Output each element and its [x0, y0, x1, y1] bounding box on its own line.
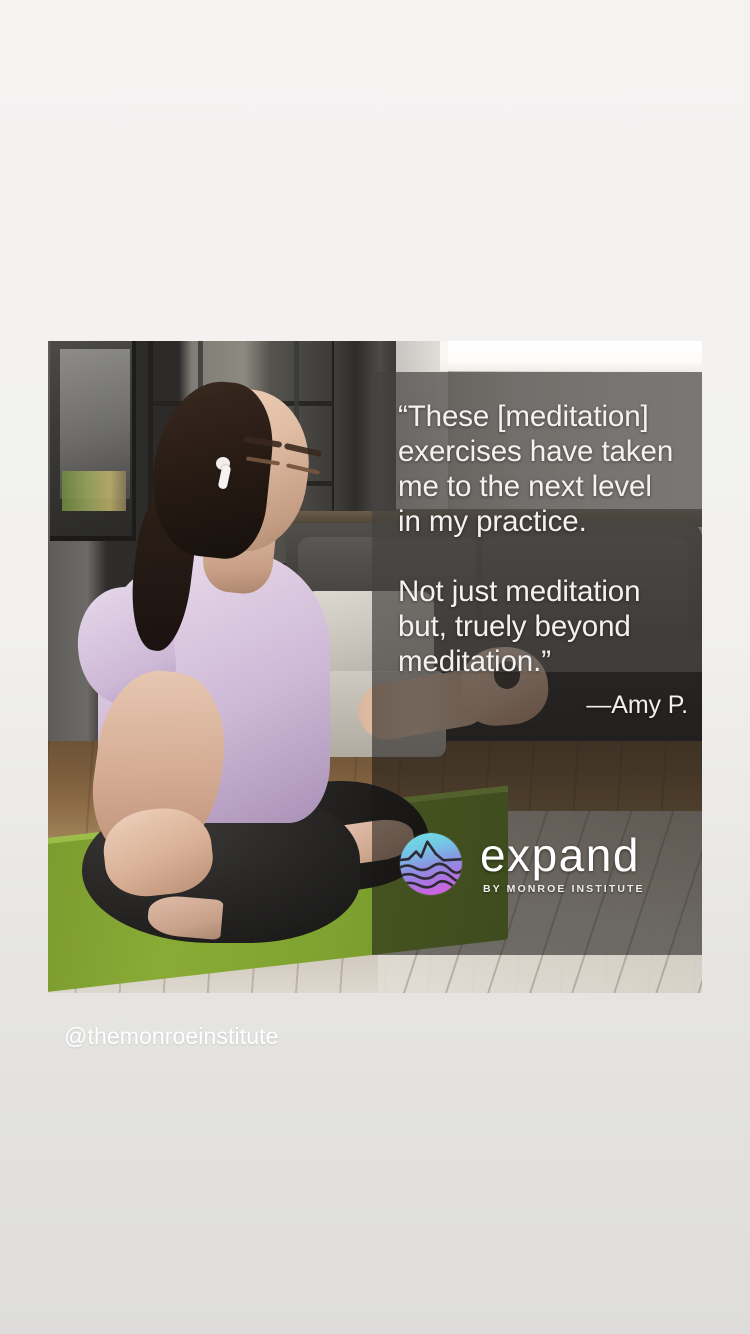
quote-line: in my practice. [398, 504, 688, 539]
quote-line: Not just meditation [398, 574, 688, 609]
quote-line: me to the next level [398, 469, 688, 504]
meditating-person [48, 341, 408, 993]
quote-paragraph-gap [398, 539, 688, 574]
post-card[interactable]: “These [meditation] exercises have taken… [48, 341, 702, 993]
window-highlight [440, 341, 702, 371]
account-handle[interactable]: @themonroeinstitute [64, 1021, 278, 1051]
quote-line: “These [meditation] [398, 399, 688, 434]
brand-text: expand BY MONROE INSTITUTE [480, 832, 645, 895]
quote-line: but, truely beyond [398, 609, 688, 644]
quote-line: meditation.” [398, 644, 688, 679]
brand-lockup[interactable]: expand BY MONROE INSTITUTE [400, 832, 645, 895]
brand-wordmark: expand [480, 832, 645, 878]
expand-waves-circle-icon [400, 833, 462, 895]
brand-tagline: BY MONROE INSTITUTE [483, 883, 645, 895]
testimonial-quote: “These [meditation] exercises have taken… [398, 399, 688, 720]
quote-line: exercises have taken [398, 434, 688, 469]
quote-attribution: —Amy P. [398, 690, 688, 720]
